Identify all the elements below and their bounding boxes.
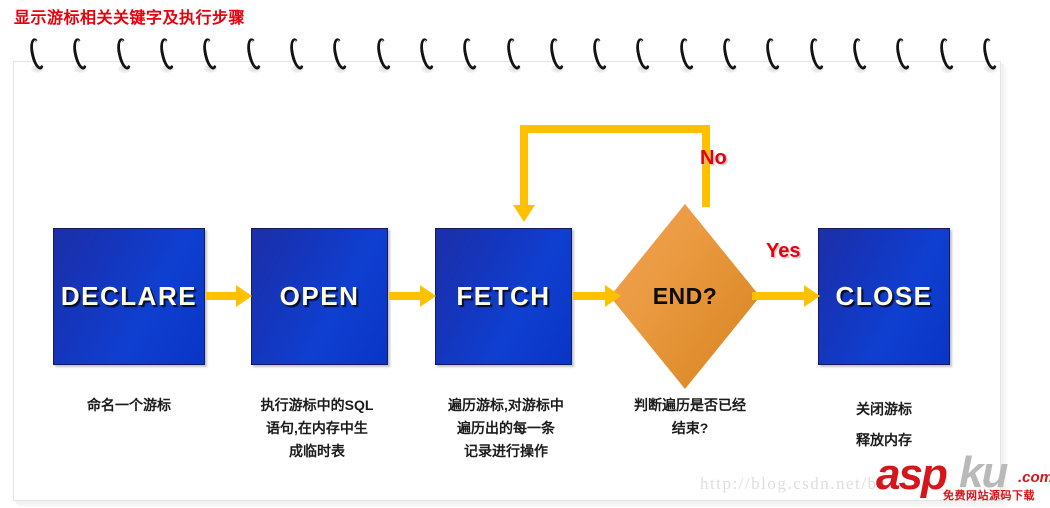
arrow-head-icon <box>236 285 252 307</box>
page-title: 显示游标相关关键字及执行步骤 <box>14 4 245 28</box>
watermark-url: http://blog.csdn.net/ba <box>700 474 887 494</box>
arrow-segment-top <box>520 125 710 133</box>
caption-line: 遍历出的每一条 <box>425 417 587 440</box>
caption-open: 执行游标中的SQL 语句,在内存中生 成临时表 <box>236 394 398 463</box>
flow-node-open-label: OPEN <box>280 281 360 312</box>
arrow-head-icon <box>513 205 535 222</box>
flow-node-declare[interactable]: DECLARE <box>53 228 205 365</box>
arrow-head-icon <box>804 285 820 307</box>
caption-line: 判断遍历是否已经 <box>605 394 775 417</box>
arrow-segment-left <box>520 125 528 207</box>
flow-node-close-label: CLOSE <box>835 281 932 312</box>
caption-fetch: 遍历游标,对游标中 遍历出的每一条 记录进行操作 <box>425 394 587 463</box>
flow-node-declare-label: DECLARE <box>61 281 197 312</box>
arrow-shaft <box>389 292 421 300</box>
arrow-end-to-close <box>752 285 820 307</box>
aspku-logo: asp ku .com 免费网站源码下载 <box>876 456 1050 508</box>
arrow-head-icon <box>420 285 436 307</box>
caption-line: 结束? <box>605 417 775 440</box>
caption-line: 记录进行操作 <box>425 440 587 463</box>
caption-close: 关闭游标 释放内存 <box>810 394 958 456</box>
arrow-fetch-to-end <box>573 285 621 307</box>
logo-com-text: .com <box>1018 469 1050 486</box>
flow-node-fetch-label: FETCH <box>456 281 550 312</box>
arrow-open-to-fetch <box>389 285 436 307</box>
caption-line: 遍历游标,对游标中 <box>425 394 587 417</box>
logo-tagline: 免费网站源码下载 <box>943 487 1035 503</box>
arrow-shaft <box>752 292 805 300</box>
caption-line: 命名一个游标 <box>40 394 218 417</box>
caption-end: 判断遍历是否已经 结束? <box>605 394 775 440</box>
caption-line: 关闭游标 <box>810 394 958 425</box>
arrow-head-icon <box>605 285 621 307</box>
flow-node-fetch[interactable]: FETCH <box>435 228 572 365</box>
arrow-declare-to-open <box>206 285 252 307</box>
arrow-shaft <box>573 292 606 300</box>
arrow-shaft <box>206 292 237 300</box>
logo-asp-text: asp <box>876 450 946 500</box>
flow-node-close[interactable]: CLOSE <box>818 228 950 365</box>
flow-node-open[interactable]: OPEN <box>251 228 388 365</box>
arrow-end-loop-to-fetch <box>520 125 710 235</box>
caption-line: 成临时表 <box>236 440 398 463</box>
caption-line: 执行游标中的SQL <box>236 394 398 417</box>
caption-line: 语句,在内存中生 <box>236 417 398 440</box>
branch-label-yes: Yes <box>766 240 800 263</box>
branch-label-no: No <box>700 147 727 170</box>
caption-declare: 命名一个游标 <box>40 394 218 417</box>
